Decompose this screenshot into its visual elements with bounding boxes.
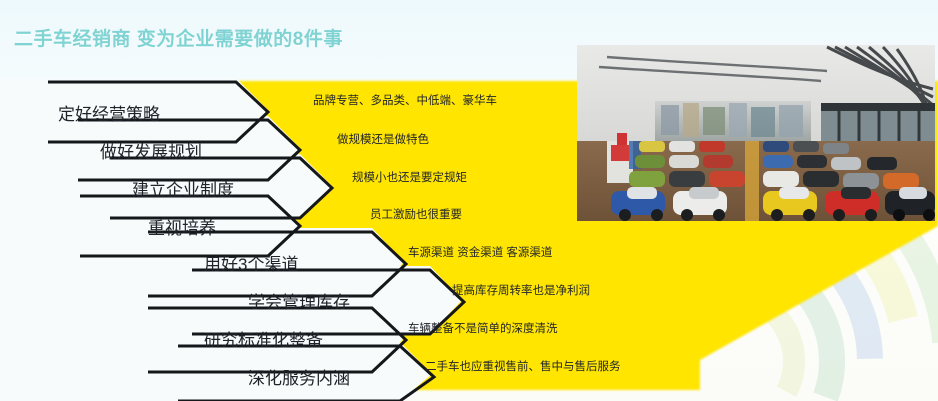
step-desc-4: 员工激励也很重要: [370, 206, 462, 222]
step-desc-7: 车辆整备不是简单的深度清洗: [408, 320, 558, 336]
step-desc-1: 品牌专营、多品类、中低端、豪华车: [313, 92, 497, 108]
step-label-2[interactable]: 做好发展规划: [100, 138, 202, 163]
step-label-5[interactable]: 用好3个渠道: [204, 250, 298, 275]
step-desc-6: 提高库存周转率也是净利润: [452, 282, 590, 298]
step-label-7[interactable]: 研究标准化整备: [204, 326, 323, 351]
step-label-1[interactable]: 定好经营策略: [58, 100, 160, 125]
page-title: 二手车经销商 变为企业需要做的8件事: [14, 24, 343, 51]
step-desc-5: 车源渠道 资金渠道 客源渠道: [408, 244, 552, 260]
step-label-3[interactable]: 建立企业制度: [132, 176, 234, 201]
step-label-8[interactable]: 深化服务内涵: [248, 364, 350, 389]
step-desc-8: 二手车也应重视售前、售中与售后服务: [425, 358, 621, 374]
step-desc-3: 规模小也还是要定规矩: [352, 169, 467, 185]
step-desc-2: 做规模还是做特色: [337, 131, 429, 147]
step-label-4[interactable]: 重视培养: [148, 214, 216, 239]
step-label-6[interactable]: 学会管理库存: [248, 288, 350, 313]
slide-canvas: 二手车经销商 变为企业需要做的8件事 定好经营策略 做好发展规划 建立企业制度 …: [0, 0, 938, 401]
